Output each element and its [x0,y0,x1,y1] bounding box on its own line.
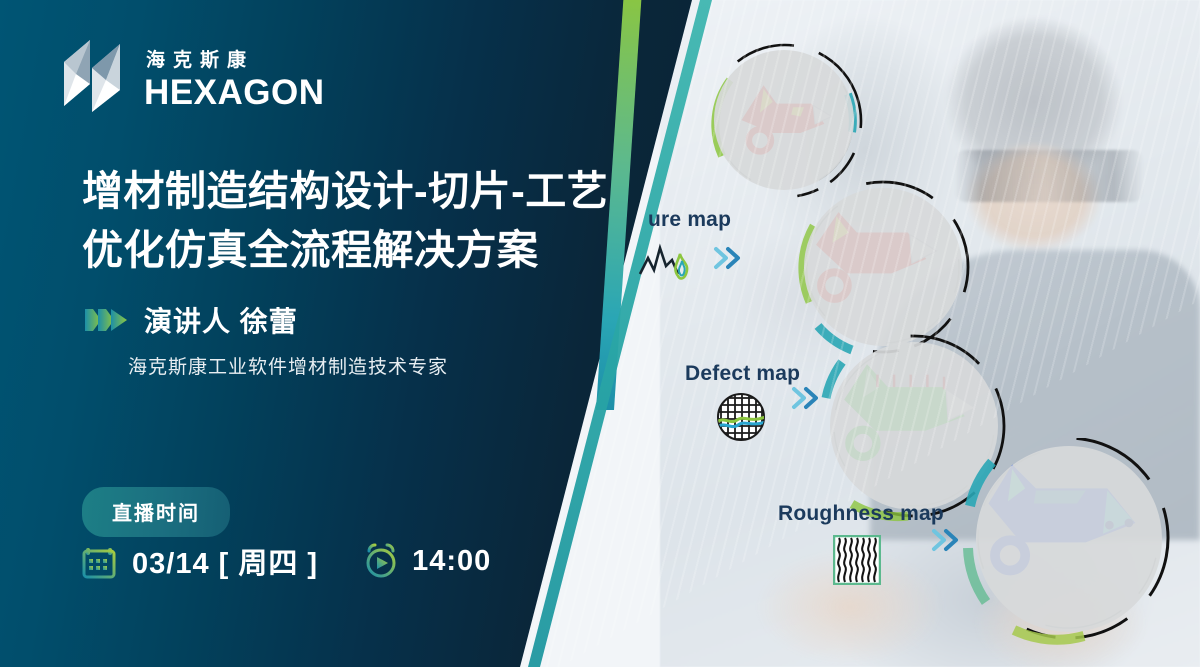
double-chevron-icon [930,527,964,553]
calendar-icon [82,542,120,580]
stage-label-defect: Defect map [685,362,800,386]
speaker-name: 演讲人 徐蕾 [144,300,298,340]
logo-english-name: HEXAGON [144,75,324,110]
hexagon-logo-mark [62,34,128,112]
headline-line-2: 优化仿真全流程解决方案 [82,221,682,280]
play-marker-icon [84,306,128,334]
stage-label-temperature: ure map [648,208,731,232]
page-title: 增材制造结构设计-切片-工艺 优化仿真全流程解决方案 [82,162,682,279]
stage-label-roughness: Roughness map [778,502,944,526]
live-time: 14:00 [412,545,491,578]
live-time-badge: 直播时间 [82,487,230,537]
roughness-texture-icon [833,535,881,590]
stress-simulation-medallion [952,438,1192,667]
defect-grid-sphere-icon [716,392,766,447]
headline-line-1: 增材制造结构设计-切片-工艺 [82,162,682,221]
datetime-row: 03/14 [ 周四 ] 14:00 [82,540,491,582]
speaker-row: 演讲人 徐蕾 [84,300,298,340]
banner-root: 海克斯康 HEXAGON 增材制造结构设计-切片-工艺 优化仿真全流程解决方案 [0,0,1200,667]
speaker-title: 海克斯康工业软件增材制造技术专家 [128,352,448,379]
double-chevron-icon [712,245,746,271]
glasses-icon [954,150,1144,202]
temperature-flame-icon [638,240,694,289]
hexagon-logo-text: 海克斯康 HEXAGON [144,51,324,112]
hexagon-logo[interactable]: 海克斯康 HEXAGON [62,34,324,112]
double-chevron-icon [790,385,824,411]
logo-chinese-name: 海克斯康 [144,51,324,70]
alarm-clock-icon [362,542,400,580]
live-date: 03/14 [ 周四 ] [132,540,318,582]
